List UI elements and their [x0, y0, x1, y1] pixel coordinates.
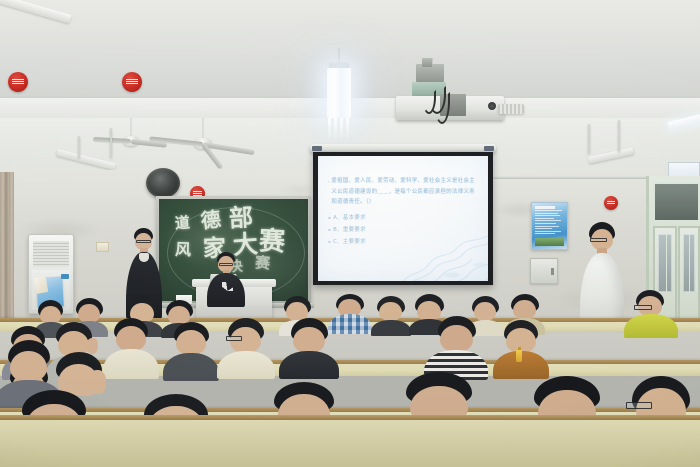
ceiling-mounted-projector [400, 58, 510, 130]
blue-information-poster [531, 202, 568, 250]
chalk-char: 赛 [254, 256, 270, 272]
window-curtain [0, 172, 14, 322]
student-glasses-middle [222, 318, 270, 378]
slide-option-label: A、基本要求 [333, 212, 366, 224]
student-dark-grey [168, 322, 214, 378]
red-circular-safety-sign [122, 72, 142, 92]
slide-bullet-icon: ▪ [328, 212, 331, 224]
wall-electrical-panel [530, 258, 558, 284]
hand [88, 370, 106, 394]
front-desk-surface [0, 415, 700, 467]
slide-bullet-icon: ▪ [328, 236, 331, 248]
ac-vent-grill [33, 241, 69, 267]
slide-option-label: B、重要要求 [333, 224, 366, 236]
chalk-char: 赛 [258, 228, 285, 255]
projection-screen: ▪ 爱祖国、爱人民、爱劳动、爱科学、爱社会主义是社会主义公民道德建设的＿＿，是每… [313, 152, 493, 285]
glasses-icon [634, 305, 652, 310]
glasses-icon [226, 336, 242, 341]
slide-option: ▪ A、基本要求 [328, 212, 480, 224]
slide-question: 爱祖国、爱人民、爱劳动、爱科学、爱社会主义是社会主义公民道德建设的＿＿，是每个公… [331, 176, 480, 208]
ceiling-vent-right [498, 104, 524, 114]
hanging-pendant-light [327, 62, 351, 146]
standing-student-right [580, 222, 624, 330]
student-black-tee [284, 318, 334, 378]
slide-bullet-icon: ▪ [328, 176, 329, 188]
student-plaid-shirt [330, 294, 370, 334]
shirt-logo [222, 282, 233, 291]
glasses-icon [626, 402, 652, 409]
student-brown-top [498, 320, 544, 378]
door-transom-glass [653, 182, 700, 222]
yellow-drink-bottle[interactable] [516, 350, 522, 362]
slide-options: ▪ A、基本要求 ▪ B、重要要求 ▪ C、主要要求 [328, 212, 480, 248]
tube-hanger-left [78, 136, 80, 158]
ac-brand-badge [61, 274, 69, 279]
chalk-char: 道 [174, 216, 190, 232]
glasses-icon [219, 263, 233, 266]
tube-hanger-right-2 [618, 120, 620, 152]
slide-bullet-icon: ▪ [328, 224, 331, 236]
chalk-char: 德 [200, 210, 222, 232]
ceiling-fan-right [148, 118, 258, 158]
slide-content: ▪ 爱祖国、爱人民、爱劳动、爱科学、爱社会主义是社会主义公民道德建设的＿＿，是每… [328, 176, 480, 248]
red-circular-safety-sign [604, 196, 618, 210]
slide-option: ▪ B、重要要求 [328, 224, 480, 236]
classroom-photo: 道 德 部 风 家 大 赛 决 赛 [0, 0, 700, 467]
chalk-char: 部 [228, 206, 253, 231]
ac-decal-peel [34, 276, 49, 294]
presentation-slide: ▪ 爱祖国、爱人民、爱劳动、爱科学、爱社会主义是社会主义公民道德建设的＿＿，是每… [318, 156, 488, 281]
red-circular-safety-sign [8, 72, 28, 92]
tube-hanger-right [588, 124, 590, 154]
plaid-torso [328, 314, 372, 334]
student-striped-shirt [430, 316, 482, 378]
glasses-icon [136, 240, 151, 243]
collar [139, 253, 149, 262]
slide-option-label: C、主要要求 [333, 236, 366, 248]
small-wall-notice [96, 242, 109, 252]
tube-hanger-left-2 [110, 128, 112, 158]
glasses-icon [590, 238, 607, 242]
wall-mounted-fan [146, 168, 180, 198]
seated-presenter-at-podium [209, 252, 243, 304]
student-cream-shirt [108, 318, 154, 378]
door-glass-left [658, 234, 672, 292]
door-leaf-right[interactable] [678, 226, 700, 328]
student-yellow-polo [628, 290, 674, 336]
slide-option: ▪ C、主要要求 [328, 236, 480, 248]
student-back-row-7 [374, 296, 408, 334]
chalk-char: 风 [175, 243, 192, 260]
